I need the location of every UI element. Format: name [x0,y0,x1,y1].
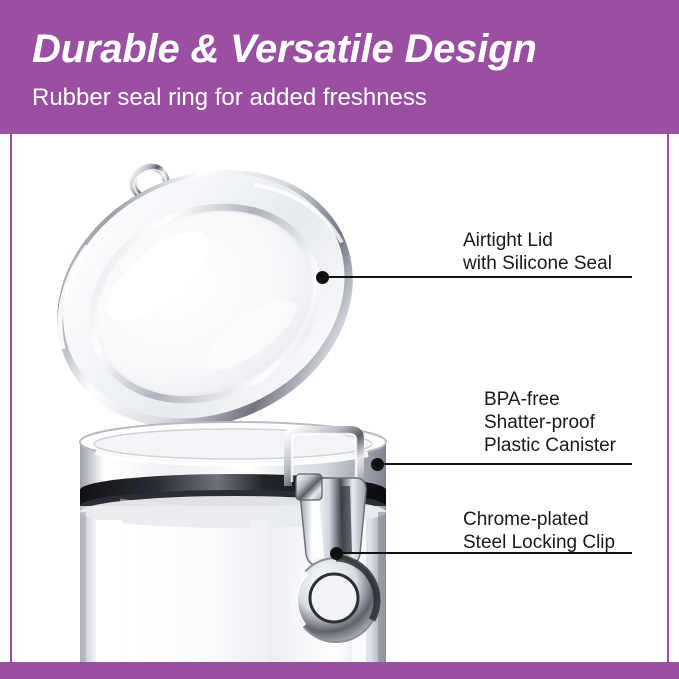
clip-ring-aperture [310,574,358,622]
callout-locking-clip-line-2: Steel Locking Clip [463,531,615,554]
page-subtitle: Rubber seal ring for added freshness [32,84,427,112]
infographic-page: Durable & Versatile Design Rubber seal r… [0,0,679,679]
callout-plastic-canister-line-2: Shatter-proof [484,411,616,434]
callout-airtight-lid-line-1: Airtight Lid [463,229,612,252]
callout-plastic-canister-line-3: Plastic Canister [484,434,616,457]
footer-banner [0,662,679,679]
header-banner: Durable & Versatile Design Rubber seal r… [0,0,679,134]
callout-locking-clip-line-1: Chrome-plated [463,508,615,531]
callout-plastic-canister: BPA-free Shatter-proof Plastic Canister [484,388,616,457]
page-title: Durable & Versatile Design [32,26,537,72]
callout-leader-airtight-lid [328,276,632,278]
callout-locking-clip: Chrome-plated Steel Locking Clip [463,508,615,554]
callout-airtight-lid-line-2: with Silicone Seal [463,252,612,275]
body-highlight-left [96,520,122,662]
clip-hinge-block [296,474,322,500]
body-edge-right [378,512,386,662]
body-shade-center [250,520,268,662]
callout-airtight-lid: Airtight Lid with Silicone Seal [463,229,612,275]
clip-lever-shadow [340,486,352,554]
callout-plastic-canister-line-1: BPA-free [484,388,616,411]
callout-leader-plastic-canister [383,463,632,465]
body-edge-left [80,512,86,662]
